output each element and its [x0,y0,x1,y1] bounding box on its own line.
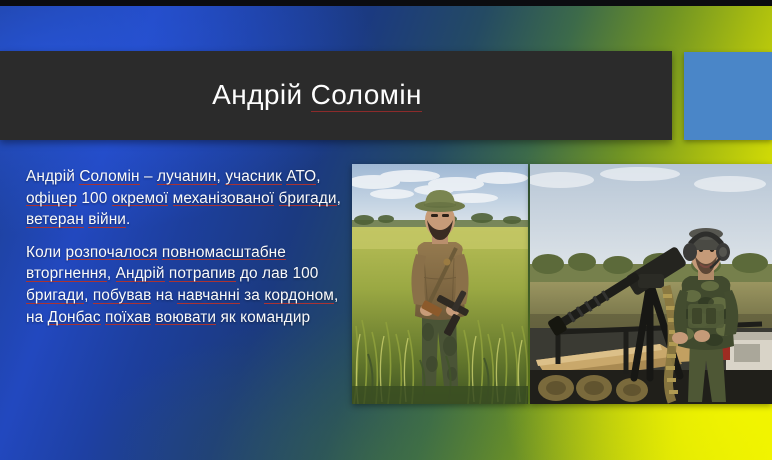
misspelled-word: механізованої [173,190,274,208]
text-run [168,190,172,207]
blue-decoration-rectangle [684,52,772,140]
misspelled-word: кордоном [264,287,334,305]
misspelled-word: Соломін [79,168,139,186]
photo-left-image [352,164,528,404]
title-last-name-misspelled: Соломін [311,79,422,112]
misspelled-word: побував [93,287,152,305]
misspelled-word: окремої [112,190,169,208]
photo-soldier-in-field [352,164,528,404]
text-run: – [140,168,157,185]
text-run: за [240,287,265,304]
misspelled-word: АТО [286,168,316,186]
photo-soldier-with-machine-gun [530,164,772,404]
text-run: , [316,168,320,185]
body-text-column: Андрій Соломін – лучанин, учасник АТО, о… [26,166,344,328]
paragraph-2: Коли розпочалося повномасштабне вторгнен… [26,242,344,328]
text-run: Коли [26,244,66,261]
misspelled-word: лучанин [157,168,217,186]
text-run: , [84,287,93,304]
misspelled-word: розпочалося [66,244,158,262]
misspelled-word: потрапив [169,265,236,283]
misspelled-word: Андрій [116,265,165,283]
title-bar: Андрій Соломін [0,51,672,140]
text-run: , [337,190,341,207]
misspelled-word: учасник [225,168,282,186]
page-title: Андрій Соломін [212,80,460,111]
misspelled-word: офіцер [26,190,77,208]
photo-right-image [530,164,772,404]
title-first-name: Андрій [212,79,311,110]
text-run: , [107,265,116,282]
misspelled-word: вторгнення [26,265,107,283]
text-run: , [217,168,226,185]
misspelled-word: воювати [155,309,216,327]
text-run: Андрій [26,168,79,185]
misspelled-word: поїхав [105,309,151,327]
paragraph-1: Андрій Соломін – лучанин, учасник АТО, о… [26,166,344,231]
misspelled-word: бригади [26,287,84,305]
misspelled-word: війни [88,211,126,229]
text-run: 100 [77,190,112,207]
misspelled-word: повномасштабне [162,244,286,262]
misspelled-word: навчанні [177,287,239,305]
text-run: як командир [216,309,310,326]
text-run: на [151,287,177,304]
presentation-slide: Андрій Соломін Андрій Соломін – лучанин,… [0,0,772,460]
top-black-strip [0,0,772,6]
misspelled-word: ветеран [26,211,84,229]
text-run [274,190,278,207]
text-run: до лав 100 [236,265,319,282]
misspelled-word: Донбас [48,309,101,327]
misspelled-word: бригади [279,190,337,208]
text-run: . [126,211,130,228]
